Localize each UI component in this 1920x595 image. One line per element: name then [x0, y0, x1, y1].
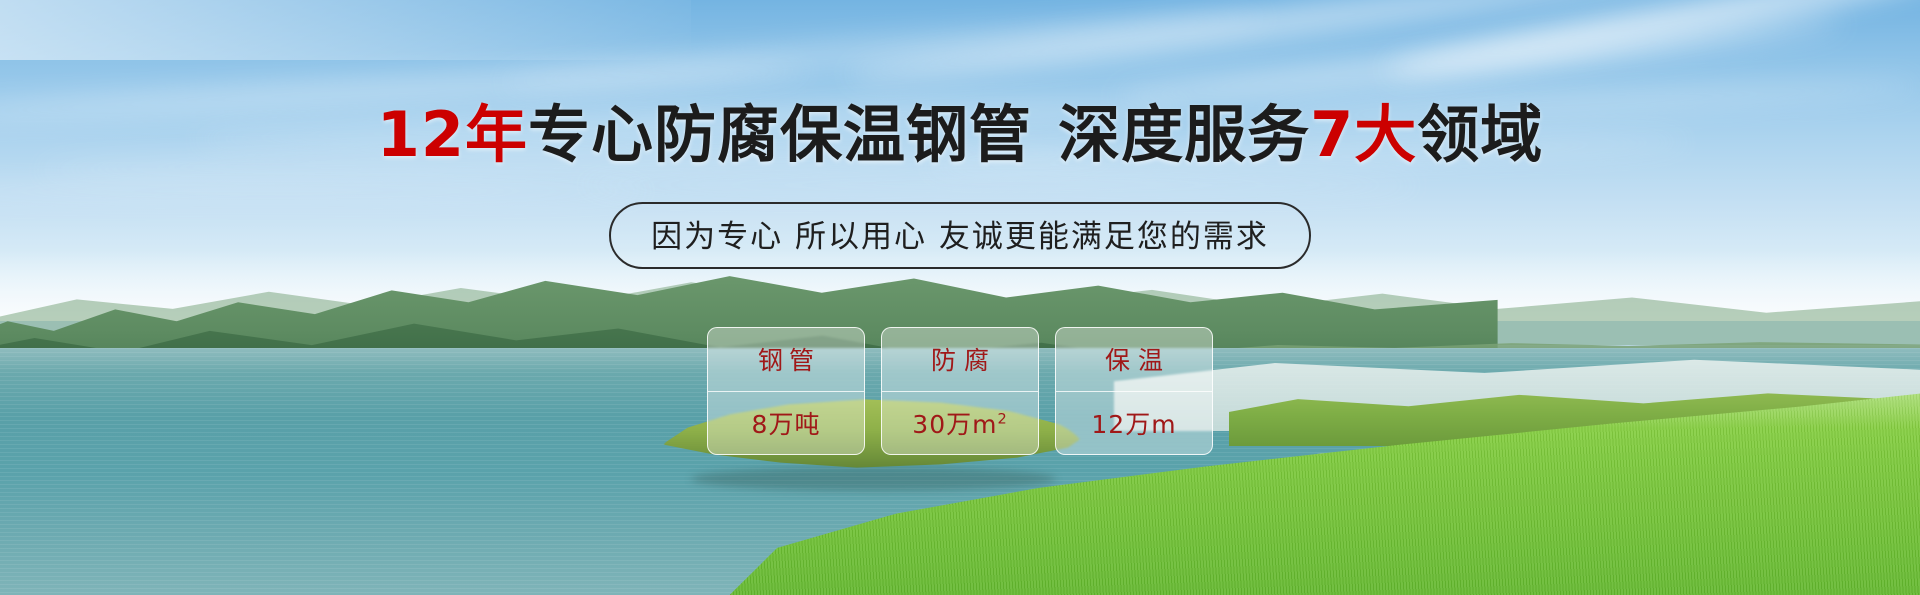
- stat-card-label-row: 钢管: [708, 328, 864, 392]
- headline-fields-unit: 大: [1354, 98, 1417, 171]
- stat-card-insulation[interactable]: 保温 12万m: [1055, 327, 1213, 455]
- stat-card-anticorrosion[interactable]: 防腐 30万m2: [881, 327, 1039, 455]
- headline-years-number: 12: [377, 98, 465, 171]
- subtitle-pill: 因为专心 所以用心 友诚更能满足您的需求: [609, 202, 1311, 269]
- stat-card-label: 保温: [1097, 341, 1171, 377]
- banner-content: 12年专心防腐保温钢管深度服务7大领域 因为专心 所以用心 友诚更能满足您的需求…: [0, 0, 1920, 595]
- stat-card-value: 12万m: [1091, 405, 1176, 441]
- hero-banner: 12年专心防腐保温钢管深度服务7大领域 因为专心 所以用心 友诚更能满足您的需求…: [0, 0, 1920, 595]
- headline-service-phrase: 深度服务: [1058, 98, 1310, 171]
- stat-card-value-main: 30万m: [912, 410, 997, 439]
- stat-cards: 钢管 8万吨 防腐 30万m2 保温 12万m: [0, 327, 1920, 455]
- headline-main-phrase: 专心防腐保温钢管: [528, 98, 1032, 171]
- headline-years-unit: 年: [465, 98, 528, 171]
- stat-card-value-row: 30万m2: [882, 392, 1038, 455]
- stat-card-label: 钢管: [752, 341, 820, 377]
- headline: 12年专心防腐保温钢管深度服务7大领域: [0, 84, 1920, 174]
- stat-card-value: 8万吨: [752, 405, 821, 441]
- stat-card-steel-pipe[interactable]: 钢管 8万吨: [707, 327, 865, 455]
- stat-card-value-main: 8万吨: [752, 410, 821, 439]
- headline-fields-number: 7: [1310, 98, 1354, 171]
- stat-card-value-main: 12万m: [1091, 410, 1176, 439]
- stat-card-label-row: 保温: [1056, 328, 1212, 392]
- stat-card-value-row: 8万吨: [708, 392, 864, 455]
- subtitle-wrapper: 因为专心 所以用心 友诚更能满足您的需求: [0, 202, 1920, 269]
- stat-card-label-row: 防腐: [882, 328, 1038, 392]
- stat-card-value-row: 12万m: [1056, 392, 1212, 455]
- stat-card-value-superscript: 2: [997, 411, 1007, 427]
- headline-fields-word: 领域: [1417, 98, 1543, 171]
- stat-card-label: 防腐: [923, 341, 997, 377]
- stat-card-value: 30万m2: [912, 405, 1007, 441]
